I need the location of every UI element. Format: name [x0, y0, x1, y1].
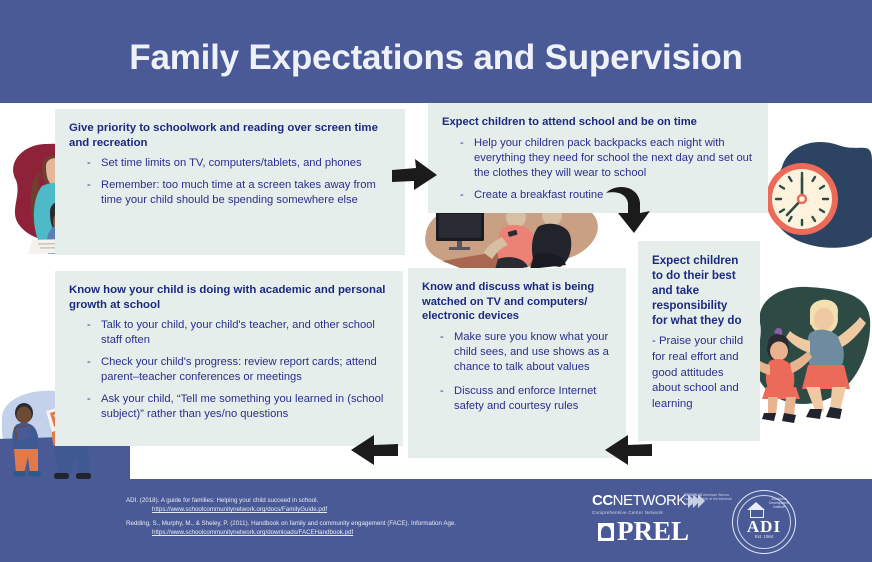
arrow-left-media-to-growth-icon [348, 431, 400, 469]
list-item: Check your child's progress: review repo… [87, 355, 389, 385]
wall-clock-illustration [752, 131, 872, 259]
list-item: Remember: too much time at a screen take… [87, 178, 391, 208]
info-box-responsibility-title: Expect children to do their best and tak… [652, 253, 746, 328]
info-box-screen-time-title: Give priority to schoolwork and reading … [69, 121, 391, 150]
adi-arc-text: Academic Development Institute [765, 497, 793, 510]
list-item: Discuss and enforce Internet safety and … [440, 384, 612, 414]
ccnetwork-region-head: REGION 18 [684, 493, 702, 497]
info-box-academic-growth-bullets: Talk to your child, your child's teacher… [69, 318, 389, 422]
house-icon [747, 502, 765, 518]
adi-logo: Academic Development Institute ADI Est. … [732, 490, 796, 554]
info-box-media-supervision-title: Know and discuss what is being watched o… [422, 280, 612, 324]
citation-item: ADI. (2018). A guide for families: Helpi… [126, 496, 556, 514]
ccnetwork-word-bold: CC [592, 492, 613, 509]
citation-text: Redding, S., Murphy, M., & Sheley, P. (2… [126, 520, 456, 527]
content-area: Give priority to schoolwork and reading … [0, 103, 872, 479]
ccnetwork-subtitle: Comprehensive Center Network [592, 510, 705, 515]
info-box-attendance-title: Expect children to attend school and be … [442, 115, 754, 130]
list-item: Set time limits on TV, computers/tablets… [87, 156, 391, 171]
info-box-media-supervision-bullets: Make sure you know what your child sees,… [422, 330, 612, 414]
adi-established: Est. 1984 [733, 534, 795, 539]
info-box-academic-growth-title: Know how your child is doing with academ… [69, 283, 389, 312]
mother-and-daughter-dancing-illustration [746, 275, 872, 435]
ccnetwork-logo: CCNETWORK Comprehensive Center Network R… [592, 492, 705, 515]
citations: ADI. (2018). A guide for families: Helpi… [126, 496, 556, 542]
prel-mark-icon [598, 523, 614, 541]
list-item: Talk to your child, your child's teacher… [87, 318, 389, 348]
prel-logo: PREL [598, 518, 689, 545]
prel-wordmark: PREL [617, 518, 689, 545]
logo-group: CCNETWORK Comprehensive Center Network R… [592, 492, 792, 554]
citation-link[interactable]: https://www.schoolcommunitynetwork.org/d… [152, 505, 556, 514]
info-box-screen-time: Give priority to schoolwork and reading … [55, 109, 405, 255]
info-box-screen-time-bullets: Set time limits on TV, computers/tablets… [69, 156, 391, 208]
citation-link[interactable]: https://www.schoolcommunitynetwork.org/d… [152, 528, 556, 537]
list-item: - Praise your child for real effort and … [652, 334, 746, 413]
citation-text: ADI. (2018). A guide for families: Helpi… [126, 497, 318, 504]
arrow-right-screen-to-attendance-icon [390, 155, 440, 195]
list-item: Ask your child, “Tell me something you l… [87, 392, 389, 422]
arrow-curve-down-attendance-to-best-icon [598, 181, 658, 239]
ccnetwork-region-tagline: REGION 18 American Samoa Hawaii Republic… [684, 493, 732, 506]
infographic-poster: Family Expectations and Supervision [0, 0, 872, 562]
page-title: Family Expectations and Supervision [0, 38, 872, 78]
list-item: Help your children pack backpacks each n… [460, 136, 754, 181]
list-item: Make sure you know what your child sees,… [440, 330, 612, 375]
citation-item: Redding, S., Murphy, M., & Sheley, P. (2… [126, 519, 556, 537]
arrow-left-best-to-media-icon [602, 431, 654, 469]
info-box-responsibility: Expect children to do their best and tak… [638, 241, 760, 441]
info-box-media-supervision: Know and discuss what is being watched o… [408, 268, 626, 458]
ccnetwork-word-light: NETWORK [613, 492, 686, 509]
info-box-academic-growth: Know how your child is doing with academ… [55, 271, 403, 446]
